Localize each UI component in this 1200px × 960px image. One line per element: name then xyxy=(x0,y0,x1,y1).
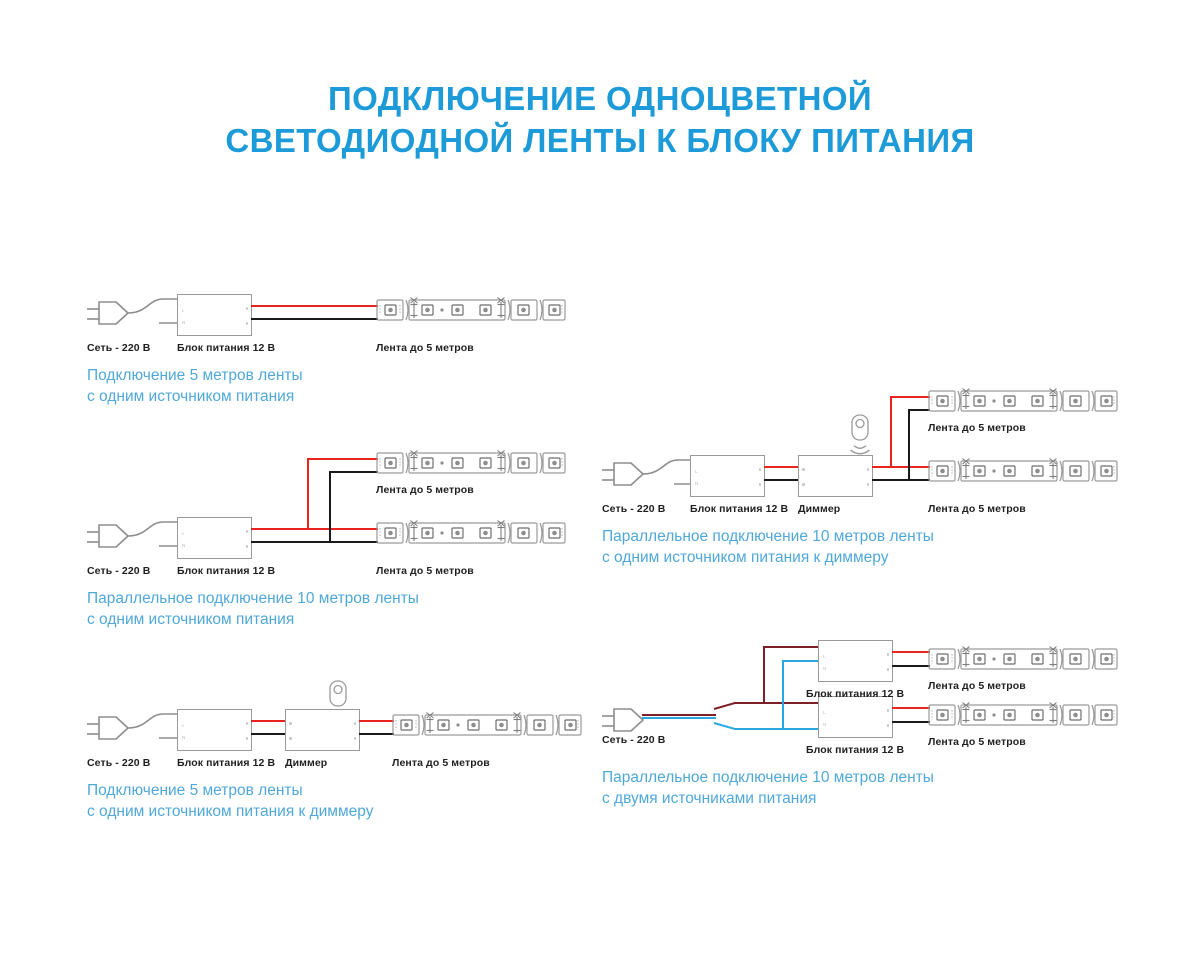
wire-negative-lower xyxy=(872,479,930,481)
wire-positive xyxy=(251,305,378,307)
caption-line-2: с двумя источниками питания xyxy=(602,788,934,809)
caption-line-2: с одним источником питания к диммеру xyxy=(87,801,373,822)
power-supply-unit: L N xyxy=(177,517,252,559)
label-led-strip-lower: Лента до 5 метров xyxy=(928,503,1026,515)
power-supply-unit-lower: L N xyxy=(818,696,893,738)
label-led-strip-upper: Лента до 5 метров xyxy=(928,680,1026,692)
caption-line-2: с одним источником питания xyxy=(87,386,303,407)
caption-line-2: с одним источником питания к диммеру xyxy=(602,547,934,568)
diagram-parallel-10m-one-psu: L N xyxy=(85,440,585,625)
diagram-parallel-10m-two-psu: L N L N xyxy=(600,622,1140,812)
led-strip-upper xyxy=(928,644,1118,670)
diagram-caption: Подключение 5 метров ленты с одним источ… xyxy=(87,780,373,822)
diagram-caption: Подключение 5 метров ленты с одним источ… xyxy=(87,365,303,407)
wire-negative xyxy=(251,318,378,320)
caption-line-1: Параллельное подключение 10 метров ленты xyxy=(602,526,934,547)
caption-line-1: Подключение 5 метров ленты xyxy=(87,780,373,801)
diagram-caption: Параллельное подключение 10 метров ленты… xyxy=(602,767,934,809)
wire-negative-lower xyxy=(892,721,930,723)
diagram-caption: Параллельное подключение 10 метров ленты… xyxy=(602,526,934,568)
wire-positive-lower xyxy=(251,528,378,530)
label-led-strip-upper: Лента до 5 метров xyxy=(376,484,474,496)
led-strip-lower xyxy=(928,700,1118,726)
power-supply-unit: L N xyxy=(177,294,252,336)
power-supply-unit: L N xyxy=(690,455,765,497)
page-title-line-1: ПОДКЛЮЧЕНИЕ ОДНОЦВЕТНОЙ xyxy=(0,78,1200,120)
wire-neutral-trunk xyxy=(642,717,716,719)
led-strip-lower xyxy=(376,518,566,544)
label-power-supply-upper: Блок питания 12 В xyxy=(806,688,904,700)
label-power-supply: Блок питания 12 В xyxy=(177,757,275,769)
wire-live-trunk xyxy=(642,714,716,716)
wire-live-upper-run xyxy=(763,646,820,648)
dimmer-unit xyxy=(798,455,873,497)
wire-negative-upper xyxy=(892,665,930,667)
caption-line-1: Параллельное подключение 10 метров ленты xyxy=(87,588,419,609)
wire-negative-psu-dimmer xyxy=(251,733,286,735)
wire-positive-upper xyxy=(892,651,930,653)
led-strip-upper xyxy=(376,448,566,474)
wire-positive-psu-dimmer xyxy=(764,466,799,468)
wire-positive-upper xyxy=(307,458,378,460)
wire-negative-lower xyxy=(251,541,378,543)
wire-neutral-riser xyxy=(782,660,784,730)
label-led-strip: Лента до 5 метров xyxy=(392,757,490,769)
wire-negative-upper xyxy=(908,409,930,411)
infographic-page: ПОДКЛЮЧЕНИЕ ОДНОЦВЕТНОЙ СВЕТОДИОДНОЙ ЛЕН… xyxy=(0,0,1200,960)
page-title: ПОДКЛЮЧЕНИЕ ОДНОЦВЕТНОЙ СВЕТОДИОДНОЙ ЛЕН… xyxy=(0,78,1200,162)
wire-negative-branch xyxy=(329,471,331,543)
wire-live-riser xyxy=(763,646,765,704)
caption-line-2: с одним источником питания xyxy=(87,609,419,630)
wire-positive-lower xyxy=(892,707,930,709)
label-mains: Сеть - 220 В xyxy=(87,757,150,769)
led-strip-lower xyxy=(928,456,1118,482)
wire-negative-psu-dimmer xyxy=(764,479,799,481)
label-power-supply-lower: Блок питания 12 В xyxy=(806,744,904,756)
diagram-caption: Параллельное подключение 10 метров ленты… xyxy=(87,588,419,630)
label-power-supply: Блок питания 12 В xyxy=(177,565,275,577)
wire-positive-upper xyxy=(890,396,930,398)
diagram-parallel-10m-dimmer: L N xyxy=(600,378,1140,563)
label-dimmer: Диммер xyxy=(285,757,327,769)
wire-positive-branch xyxy=(307,458,309,530)
diagram-single-5m: L N xyxy=(85,285,585,405)
label-mains: Сеть - 220 В xyxy=(87,342,150,354)
label-led-strip: Лента до 5 метров xyxy=(376,342,474,354)
wire-positive-lower xyxy=(872,466,930,468)
caption-line-1: Параллельное подключение 10 метров ленты xyxy=(602,767,934,788)
label-mains: Сеть - 220 В xyxy=(602,734,665,746)
wire-negative-upper xyxy=(329,471,378,473)
power-supply-unit: L N xyxy=(177,709,252,751)
label-led-strip-upper: Лента до 5 метров xyxy=(928,422,1026,434)
wire-positive-psu-dimmer xyxy=(251,720,286,722)
wire-positive-branch xyxy=(890,396,892,468)
wire-negative-branch xyxy=(908,409,910,481)
diagram-single-5m-dimmer: L N xyxy=(85,680,585,845)
caption-line-1: Подключение 5 метров ленты xyxy=(87,365,303,386)
page-title-line-2: СВЕТОДИОДНОЙ ЛЕНТЫ К БЛОКУ ПИТАНИЯ xyxy=(0,120,1200,162)
wire-neutral-lower-run xyxy=(734,728,820,730)
led-strip xyxy=(392,710,582,736)
label-mains: Сеть - 220 В xyxy=(602,503,665,515)
label-mains: Сеть - 220 В xyxy=(87,565,150,577)
label-power-supply: Блок питания 12 В xyxy=(690,503,788,515)
wire-neutral-upper-run xyxy=(782,660,820,662)
led-strip xyxy=(376,295,566,321)
wire-live-lower-run xyxy=(734,702,820,704)
wire-positive-dimmer-strip xyxy=(359,720,394,722)
wire-negative-dimmer-strip xyxy=(359,733,394,735)
label-dimmer: Диммер xyxy=(798,503,840,515)
led-strip-upper xyxy=(928,386,1118,412)
dimmer-unit xyxy=(285,709,360,751)
power-supply-unit-upper: L N xyxy=(818,640,893,682)
label-power-supply: Блок питания 12 В xyxy=(177,342,275,354)
label-led-strip-lower: Лента до 5 метров xyxy=(376,565,474,577)
label-led-strip-lower: Лента до 5 метров xyxy=(928,736,1026,748)
